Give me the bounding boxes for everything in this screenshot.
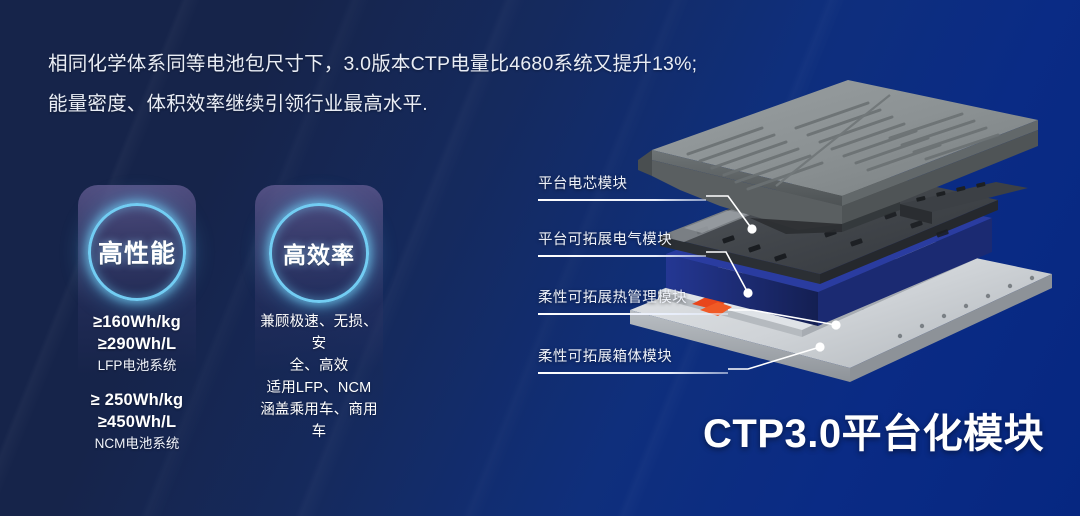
heading-line-1: 相同化学体系同等电池包尺寸下，3.0版本CTP电量比4680系统又提升13%; [48,53,697,75]
card-1-ring-label: 高性能 [88,203,186,301]
card-2-ring-label: 高效率 [269,203,369,303]
card-1-spacer [78,376,196,389]
card-2-line-3: 适用LFP、NCM [255,377,383,399]
card-1-spec-6: NCM电池系统 [78,433,196,454]
card-2-line-4: 涵盖乘用车、商用车 [255,399,383,443]
callout-thermal-module: 柔性可拓展热管理模块 [538,286,728,315]
callout-platform-electrical-module: 平台可拓展电气模块 [538,228,706,257]
slide-canvas: 相同化学体系同等电池包尺寸下，3.0版本CTP电量比4680系统又提升13%; … [0,0,1080,516]
callout-platform-cell-module: 平台电芯模块 [538,172,706,201]
card-1-spec-5: ≥450Wh/L [78,411,196,433]
glow-ring-efficiency: 高效率 [269,203,369,303]
callout-1-rule [538,199,706,201]
card-1-spec-4: ≥ 250Wh/kg [78,389,196,411]
feature-card-efficiency: 高效率 兼顾极速、无损、安 全、高效 适用LFP、NCM 涵盖乘用车、商用车 [255,185,383,435]
callout-1-label: 平台电芯模块 [538,172,706,193]
card-2-body: 兼顾极速、无损、安 全、高效 适用LFP、NCM 涵盖乘用车、商用车 [255,311,383,443]
callout-3-label: 柔性可拓展热管理模块 [538,286,728,307]
callout-4-rule [538,372,728,374]
card-1-spec-2: ≥290Wh/L [78,333,196,355]
callout-4-label: 柔性可拓展箱体模块 [538,345,728,366]
product-title: CTP3.0平台化模块 [703,401,1044,459]
callout-2-label: 平台可拓展电气模块 [538,228,706,249]
callout-3-rule [538,313,728,315]
feature-card-performance: 高性能 ≥160Wh/kg ≥290Wh/L LFP电池系统 ≥ 250Wh/k… [78,185,196,435]
card-1-spec-1: ≥160Wh/kg [78,311,196,333]
card-2-line-2: 全、高效 [255,355,383,377]
card-1-body: ≥160Wh/kg ≥290Wh/L LFP电池系统 ≥ 250Wh/kg ≥4… [78,311,196,454]
card-2-line-1: 兼顾极速、无损、安 [255,311,383,355]
callout-2-rule [538,255,706,257]
card-1-spec-3: LFP电池系统 [78,355,196,376]
callout-enclosure-module: 柔性可拓展箱体模块 [538,345,728,374]
glow-ring-performance: 高性能 [88,203,186,301]
